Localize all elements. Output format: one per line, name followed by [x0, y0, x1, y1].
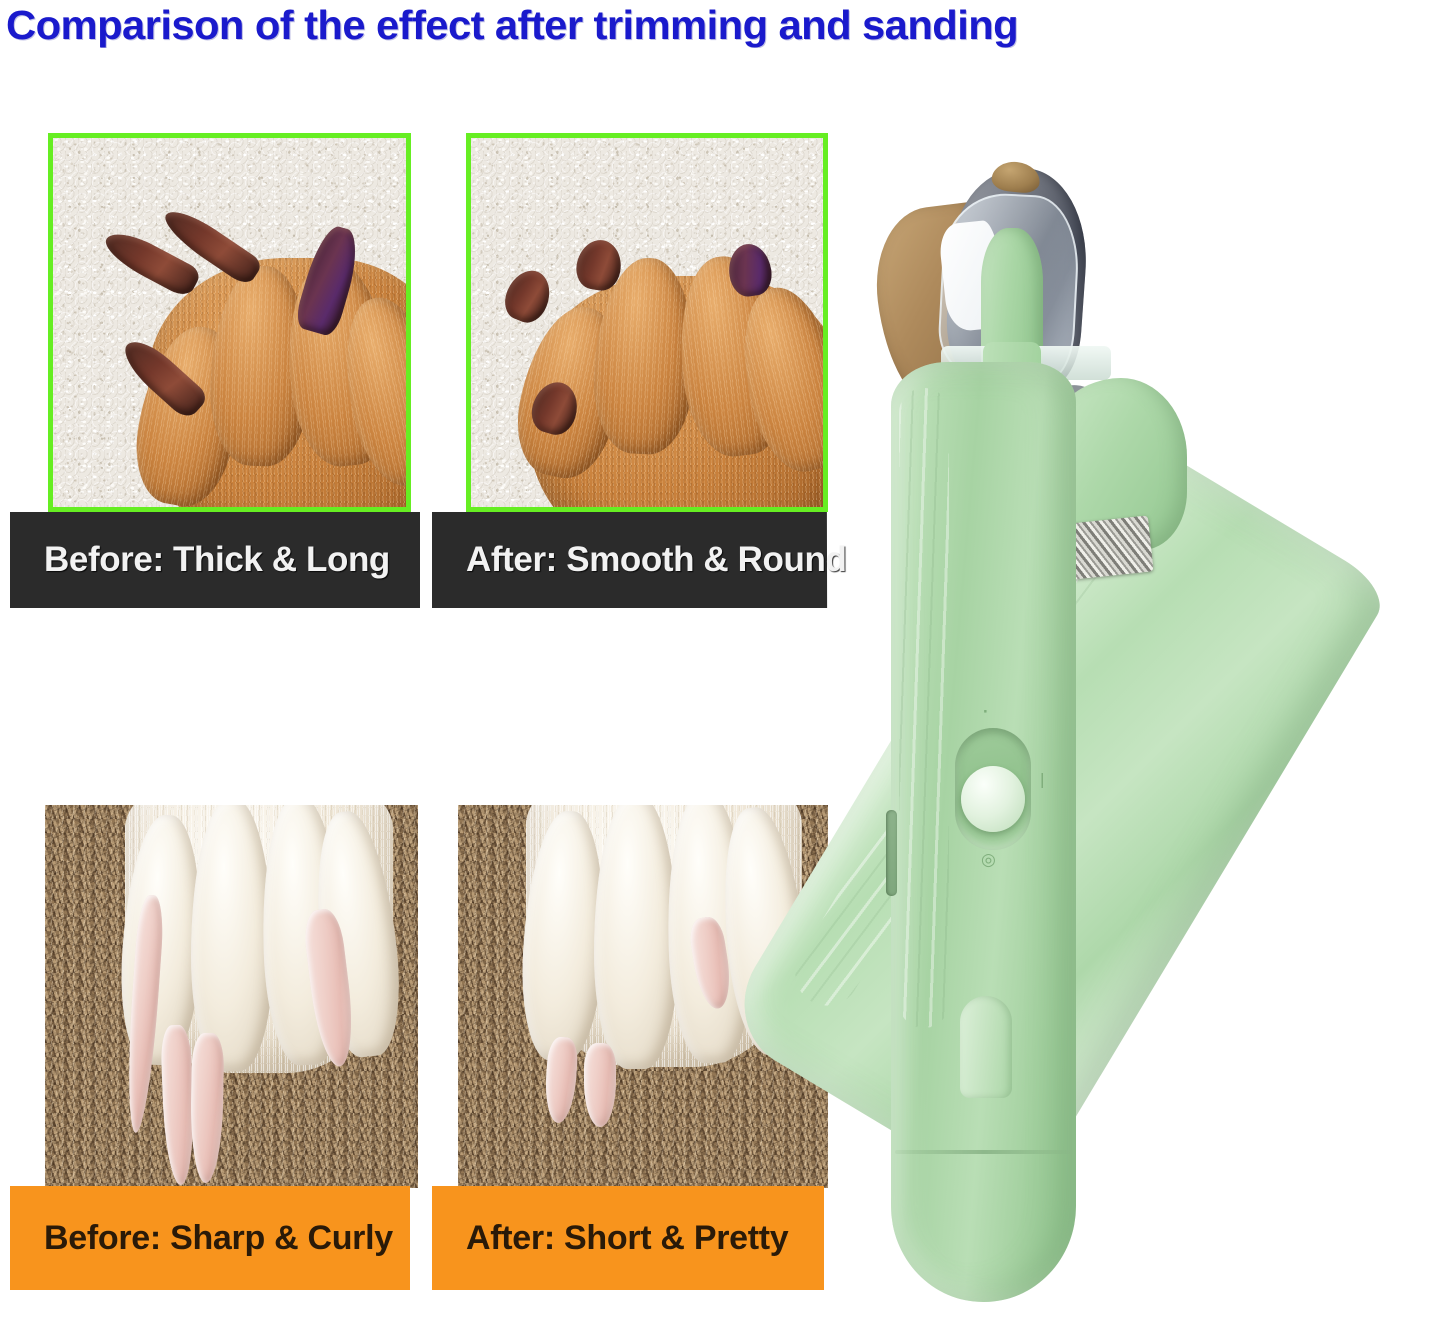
caption-before-sharp-curly: Before: Sharp & Curly — [10, 1186, 410, 1290]
page-title: Comparison of the effect after trimming … — [6, 2, 1445, 49]
caption-text: Before: Sharp & Curly — [44, 1219, 393, 1258]
photo-paw-thick-long — [53, 138, 406, 507]
product-nail-clipper: ∙ ◎ — — [855, 150, 1445, 1290]
comparison-panel-before-top — [48, 133, 411, 512]
comparison-panel-after-top — [466, 133, 828, 512]
caption-text: After: Smooth & Round — [466, 540, 847, 580]
switch-mark-bottom-icon: ◎ — [981, 850, 996, 870]
photo-paw-smooth-round — [471, 138, 823, 507]
caption-before-thick-long: Before: Thick & Long — [10, 512, 420, 608]
switch-mark-side-icon: — — [1034, 773, 1051, 788]
caption-text: Before: Thick & Long — [44, 540, 390, 580]
comparison-panel-before-bottom — [45, 805, 418, 1188]
battery-cap-part — [960, 996, 1012, 1098]
caption-after-smooth-round: After: Smooth & Round — [432, 512, 827, 608]
caption-after-short-pretty: After: Short & Pretty — [432, 1186, 824, 1290]
body-grip-ridges — [899, 388, 949, 1028]
power-switch-button[interactable] — [961, 766, 1025, 832]
paw-toe — [594, 805, 678, 1069]
body-seam-line — [895, 1150, 1073, 1154]
body-side-slot — [886, 810, 897, 896]
caption-text: After: Short & Pretty — [466, 1219, 788, 1258]
paw-toe — [191, 805, 273, 1071]
switch-mark-top-icon: ∙ — [983, 702, 988, 722]
photo-paw-sharp-curly — [45, 805, 418, 1188]
